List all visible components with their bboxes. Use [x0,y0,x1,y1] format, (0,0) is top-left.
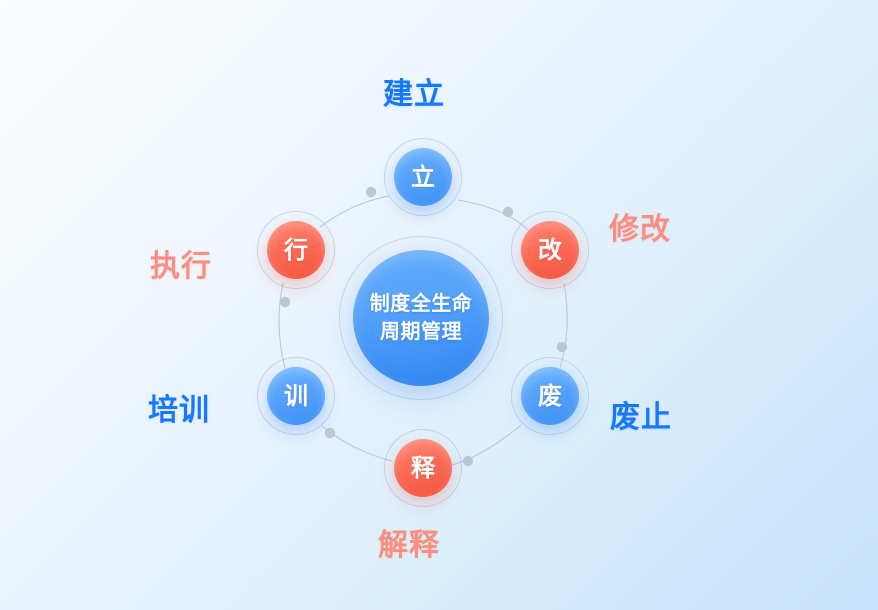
node-execute[interactable]: 行 [257,211,335,289]
node-abolish-circle[interactable]: 废 [521,367,579,425]
center-hub[interactable]: 制度全生命 周期管理 [353,250,489,386]
node-establish-circle[interactable]: 立 [394,148,452,206]
node-revise[interactable]: 改 [511,211,589,289]
caption-establish: 建立 [383,80,445,110]
caption-train: 培训 [148,396,210,426]
node-train[interactable]: 训 [257,357,335,435]
center-hub-line-1: 制度全生命 [370,290,473,318]
node-abolish-char: 废 [538,384,562,408]
center-hub-line-2: 周期管理 [380,318,462,346]
node-execute-circle[interactable]: 行 [267,221,325,279]
connector-dot-5 [280,297,290,307]
caption-abolish: 废止 [610,403,672,433]
connector-train-execute [279,283,285,368]
caption-revise: 修改 [609,215,671,245]
node-interpret[interactable]: 释 [384,429,462,507]
node-abolish[interactable]: 废 [511,357,589,435]
caption-interpret: 解释 [378,531,440,561]
connector-revise-abolish [560,283,567,368]
node-establish[interactable]: 立 [384,138,462,216]
connector-dot-6 [366,187,376,197]
caption-execute: 执行 [150,252,212,282]
node-interpret-circle[interactable]: 释 [394,439,452,497]
node-train-char: 训 [284,384,308,408]
connector-dot-2 [557,342,567,352]
node-revise-char: 改 [538,238,562,262]
node-revise-circle[interactable]: 改 [521,221,579,279]
node-train-circle[interactable]: 训 [267,367,325,425]
node-interpret-char: 释 [411,456,435,480]
connector-dot-3 [463,456,473,466]
node-establish-char: 立 [411,165,435,189]
diagram-canvas: 制度全生命 周期管理 立 建立 改 修改 废 废止 释 解释 训 [0,0,878,610]
node-execute-char: 行 [284,238,308,262]
